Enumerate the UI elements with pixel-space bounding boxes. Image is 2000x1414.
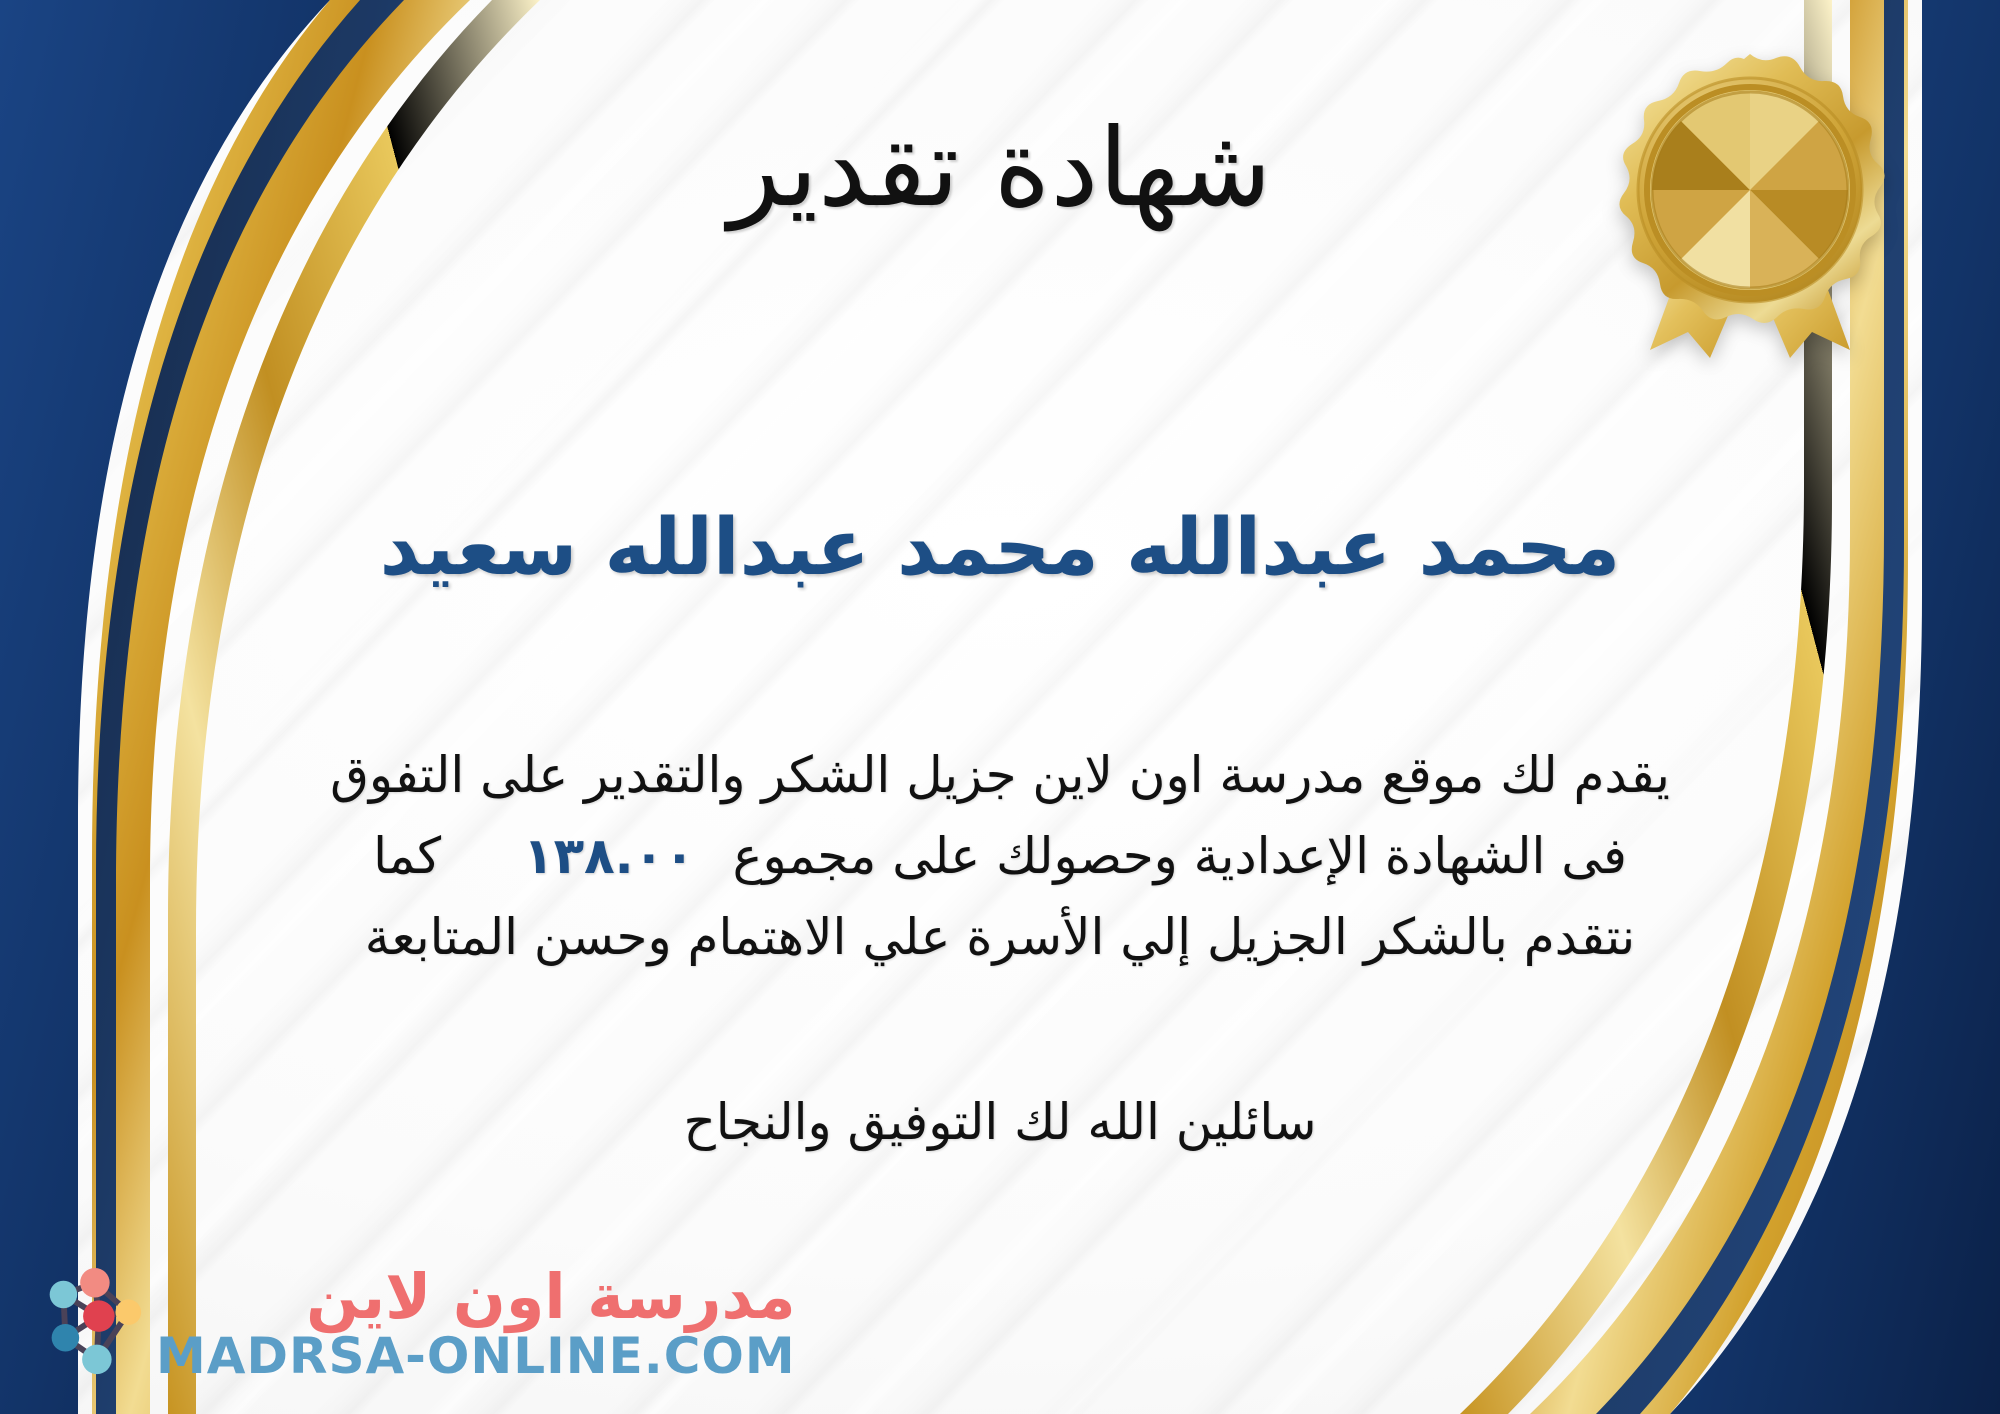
page-title: شهادة تقدير bbox=[0, 104, 2000, 234]
grade-total-value: ١٣٨.٠٠ bbox=[485, 816, 733, 897]
certificate-body: يقدم لك موقع مدرسة اون لاين جزيل الشكر و… bbox=[60, 735, 1940, 978]
certificate-page: شهادة تقدير محمد عبدالله محمد عبدالله سع… bbox=[0, 0, 2000, 1414]
closing-wish: سائلين الله لك التوفيق والنجاح bbox=[0, 1085, 2000, 1160]
body-line-2: فى الشهادة الإعدادية وحصولك على مجموع ١٣… bbox=[60, 816, 1940, 897]
brand-text: مدرسة اون لاين MADRSA-ONLINE.COM bbox=[156, 1264, 796, 1384]
network-nodes-icon bbox=[30, 1265, 148, 1383]
student-name: محمد عبدالله محمد عبدالله سعيد bbox=[0, 500, 2000, 598]
body-line-3: نتقدم بالشكر الجزيل إلي الأسرة علي الاهت… bbox=[60, 897, 1940, 978]
body-line-1: يقدم لك موقع مدرسة اون لاين جزيل الشكر و… bbox=[60, 735, 1940, 816]
brand-name-arabic: مدرسة اون لاين bbox=[306, 1264, 796, 1329]
body-line-2-prefix: فى الشهادة الإعدادية وحصولك على مجموع bbox=[733, 816, 1627, 897]
brand-logo[interactable]: مدرسة اون لاين MADRSA-ONLINE.COM bbox=[30, 1264, 796, 1384]
body-line-2-suffix: كما bbox=[373, 816, 485, 897]
brand-name-latin: MADRSA-ONLINE.COM bbox=[156, 1329, 796, 1384]
